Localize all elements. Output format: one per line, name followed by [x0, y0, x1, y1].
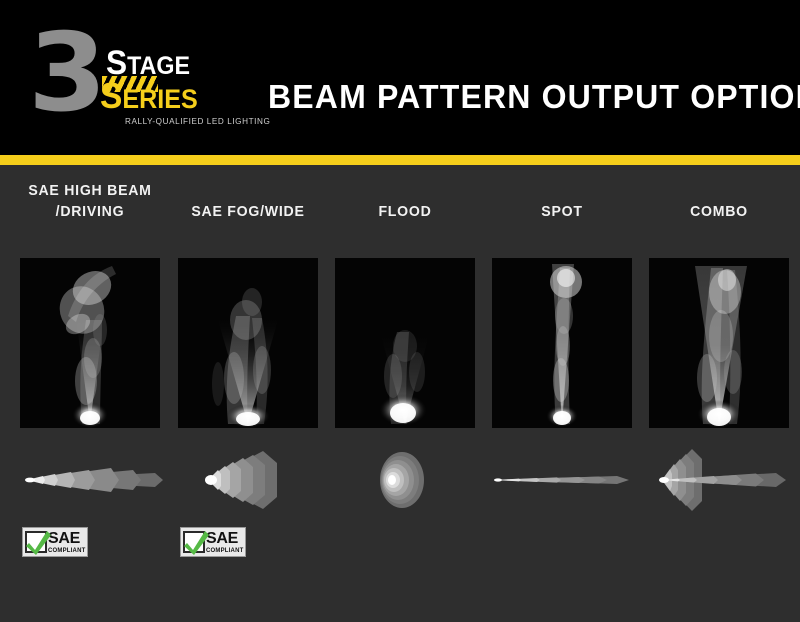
check-icon: [183, 529, 209, 557]
column-header-sae-fog-wide: SAE FOG/WIDE: [173, 180, 323, 222]
stage-series-logo: 3 STAGE SERIES RALLY-QUALIFIED LED LIGHT…: [28, 30, 248, 130]
sae-badge-main: SAE: [206, 531, 243, 547]
column-header-sae-high-beam-driving: SAE HIGH BEAM /DRIVING: [15, 180, 165, 222]
beam-photo-art: [492, 258, 632, 428]
beam-photo-flood: [335, 258, 475, 428]
column-label: SPOT: [492, 180, 633, 222]
beam-spread-combo: [644, 445, 794, 515]
sae-badge-main: SAE: [48, 531, 85, 547]
beam-photo-sae-high-beam-driving: [20, 258, 160, 428]
column-label: FLOOD: [335, 180, 476, 222]
sae-badge-text: SAE COMPLIANT: [206, 531, 243, 554]
beam-spread-flood: [330, 445, 480, 515]
logo-word-series: SERIES: [100, 78, 198, 117]
beam-spread-sae-high-beam-driving: [15, 445, 165, 515]
beam-spread-art: [487, 445, 637, 515]
beam-spread-art: [644, 445, 794, 515]
accent-divider-bar: [0, 155, 800, 165]
beam-spread-art: [330, 445, 480, 515]
check-icon: [25, 529, 51, 557]
beam-photo-art: [20, 258, 160, 428]
beam-photo-art: [178, 258, 318, 428]
page-title: BEAM PATTERN OUTPUT OPTIONS: [268, 78, 769, 116]
beam-spread-sae-fog-wide: [173, 445, 323, 515]
beam-photo-spot: [492, 258, 632, 428]
beam-spread-art: [15, 445, 165, 515]
checkbox-frame: [25, 531, 47, 553]
column-header-spot: SPOT: [487, 180, 637, 222]
sae-badge-sub: COMPLIANT: [48, 548, 85, 554]
logo-series-initial: S: [100, 75, 122, 116]
sae-compliant-badge-fog-wide: SAE COMPLIANT: [180, 527, 246, 557]
checkbox-frame: [183, 531, 205, 553]
column-header-combo: COMBO: [644, 180, 794, 222]
sae-badge-sub: COMPLIANT: [206, 548, 243, 554]
sae-badge-text: SAE COMPLIANT: [48, 531, 85, 554]
logo-tagline: RALLY-QUALIFIED LED LIGHTING: [125, 116, 270, 126]
beam-photo-combo: [649, 258, 789, 428]
beam-photo-sae-fog-wide: [178, 258, 318, 428]
column-label: COMBO: [649, 180, 790, 222]
beam-spread-art: [173, 445, 323, 515]
beam-photo-art: [649, 258, 789, 428]
column-header-flood: FLOOD: [330, 180, 480, 222]
logo-series-rest: ERIES: [122, 84, 197, 114]
column-label: SAE FOG/WIDE: [178, 180, 319, 222]
beam-photo-art: [335, 258, 475, 428]
beam-spread-spot: [487, 445, 637, 515]
beam-pattern-output-options-graphic: 3 STAGE SERIES RALLY-QUALIFIED LED LIGHT…: [0, 0, 800, 622]
column-label: SAE HIGH BEAM /DRIVING: [20, 180, 161, 222]
sae-compliant-badge-high-beam: SAE COMPLIANT: [22, 527, 88, 557]
